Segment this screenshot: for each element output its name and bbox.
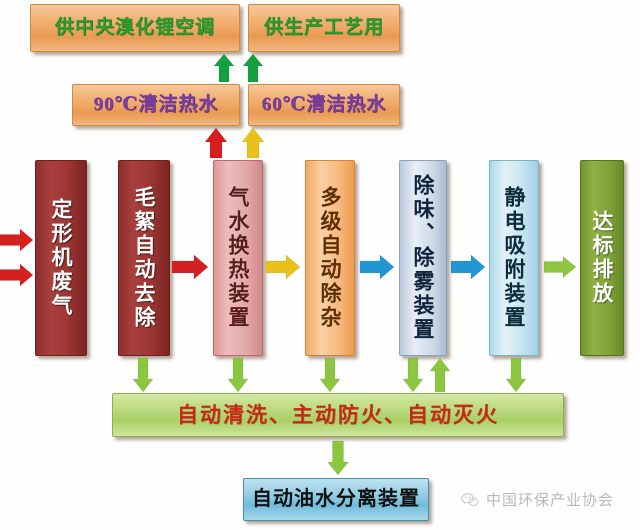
hot-water-label: 60℃清洁热水 [262, 95, 387, 115]
hot-water-box-90c: 90℃清洁热水 [72, 84, 240, 126]
arrow-multistage-to-odor [360, 255, 394, 279]
arrow-multistage-to-support [320, 358, 340, 392]
arrow-odor-to-electrostatic [451, 255, 485, 279]
arrow-inlet-exhaust-lower [0, 264, 33, 286]
watermark: 中国环保产业协会 [460, 489, 614, 510]
process-stage-exhaust-source: 定形机废气 [35, 160, 87, 356]
arrow-lint-to-support [133, 358, 153, 392]
process-stage-lint-removal: 毛絮自动去除 [118, 160, 170, 356]
arrow-60c-to-production [243, 54, 263, 82]
process-stage-air-water-heat-exchanger: 气水换热装置 [213, 160, 263, 356]
support-systems-bar: 自动清洗、主动防火、自动灭火 [112, 393, 564, 437]
process-stage-deodor-demist: 除味、除雾装置 [399, 160, 447, 356]
end-use-box-production: 供生产工艺用 [248, 4, 400, 52]
arrow-90c-to-chiller [214, 54, 234, 82]
hot-water-box-60c: 60℃清洁热水 [248, 84, 400, 126]
oil-water-separator-label: 自动油水分离装置 [252, 489, 420, 510]
end-use-label: 供中央溴化锂空调 [55, 18, 215, 38]
watermark-text: 中国环保产业协会 [486, 489, 614, 510]
wechat-icon [460, 492, 480, 508]
arrow-heat-to-support [228, 358, 248, 392]
process-stage-multistage-impurity-removal: 多级自动除杂 [305, 160, 355, 356]
arrow-heat-to-multistage [266, 255, 300, 279]
end-use-box-central-chiller: 供中央溴化锂空调 [30, 4, 240, 52]
hot-water-label: 90℃清洁热水 [94, 95, 219, 115]
process-stage-electrostatic-adsorption: 静电吸附装置 [489, 160, 539, 356]
arrow-odor-to-support [403, 358, 423, 392]
arrow-inlet-exhaust-upper [0, 229, 33, 251]
flowchart-canvas: 供中央溴化锂空调 供生产工艺用 90℃清洁热水 60℃清洁热水 定形机废气 毛絮… [0, 0, 640, 530]
arrow-lint-to-heatexchange [172, 255, 208, 279]
end-use-label: 供生产工艺用 [264, 18, 384, 38]
arrow-heat-to-90c-water [205, 128, 227, 158]
oil-water-separator-box: 自动油水分离装置 [243, 478, 429, 521]
arrow-support-to-odor [430, 358, 450, 392]
arrow-heat-to-60c-water [242, 128, 264, 158]
arrow-electrostatic-to-support [506, 358, 526, 392]
arrow-support-to-separator [328, 441, 349, 475]
process-stage-compliant-discharge: 达标排放 [580, 160, 624, 356]
arrow-electrostatic-to-discharge [544, 257, 576, 278]
support-systems-label: 自动清洗、主动防火、自动灭火 [177, 404, 499, 426]
